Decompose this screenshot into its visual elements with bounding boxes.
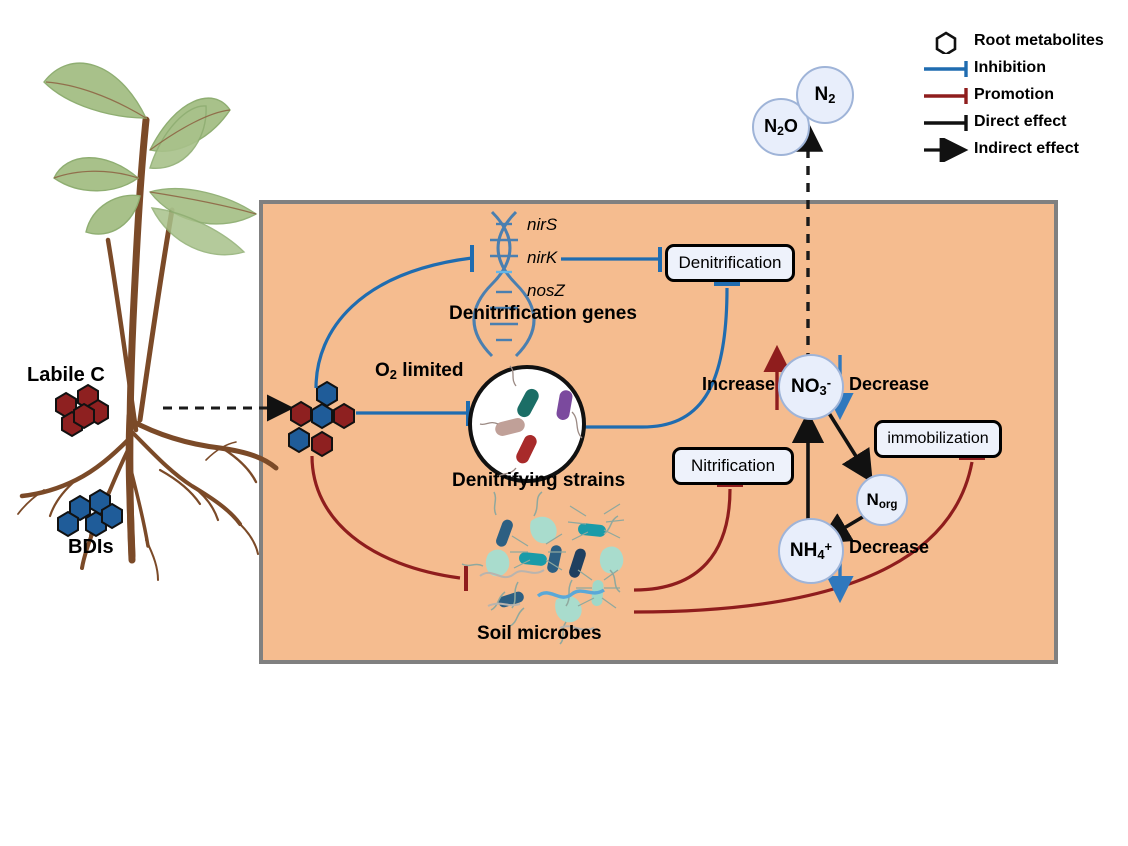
labile-c-hexagons: [56, 385, 108, 436]
immobilization-box[interactable]: immobilization: [874, 420, 1002, 458]
decrease-no3-label: Decrease: [849, 374, 929, 395]
norg-label: Norg: [867, 490, 898, 511]
denitrification-box[interactable]: Denitrification: [665, 244, 795, 282]
tbar-line-icon: [922, 84, 970, 108]
n2o-label: N2O: [764, 116, 798, 138]
legend-label-root-metabolites: Root metabolites: [974, 32, 1104, 50]
tbar-line-icon: [922, 57, 970, 81]
increase-label: Increase: [702, 374, 775, 395]
denitrifying-strains-illustration: [470, 366, 584, 481]
legend-row-root-metabolites: Root metabolites: [922, 30, 1122, 57]
gene-label-nosZ: nosZ: [527, 281, 565, 301]
denitrifying-strains-title: Denitrifying strains: [452, 470, 625, 492]
legend-label-inhibition: Inhibition: [974, 59, 1046, 77]
labile-c-label: Labile C: [27, 364, 105, 387]
legend-row-direct-effect: Direct effect: [922, 111, 1122, 138]
n2-node: N2: [796, 66, 854, 124]
legend-row-indirect-effect: Indirect effect: [922, 138, 1122, 165]
legend-row-inhibition: Inhibition: [922, 57, 1122, 84]
gene-label-nirS: nirS: [527, 215, 557, 235]
bdis-label: BDIs: [68, 536, 114, 559]
nitrate-label: NO3-: [791, 375, 831, 398]
hexagon-outline-icon: [930, 30, 976, 54]
bdis-hexagons: [58, 490, 122, 536]
plant-illustration: [18, 63, 276, 580]
legend-label-direct-effect: Direct effect: [974, 113, 1066, 131]
legend: Root metabolites Inhibition Promotion Di…: [922, 30, 1122, 165]
norg-node: Norg: [856, 474, 908, 526]
tbar-line-icon: [922, 111, 970, 135]
legend-label-indirect-effect: Indirect effect: [974, 140, 1079, 158]
gene-label-nirK: nirK: [527, 248, 557, 268]
ammonium-label: NH4+: [790, 539, 832, 562]
o2-limited-label: O2 limited: [375, 360, 463, 382]
nitrate-node: NO3-: [778, 354, 844, 420]
ammonium-node: NH4+: [778, 518, 844, 584]
arrow-line-icon: [922, 138, 972, 162]
legend-label-promotion: Promotion: [974, 86, 1054, 104]
denitrification-genes-title: Denitrification genes: [449, 303, 637, 325]
legend-row-promotion: Promotion: [922, 84, 1122, 111]
decrease-nh4-label: Decrease: [849, 537, 929, 558]
soil-microbes-title: Soil microbes: [477, 623, 602, 645]
n2-label: N2: [815, 84, 836, 106]
diagram-canvas: Root metabolites Inhibition Promotion Di…: [0, 0, 1128, 846]
nitrification-box[interactable]: Nitrification: [672, 447, 794, 485]
